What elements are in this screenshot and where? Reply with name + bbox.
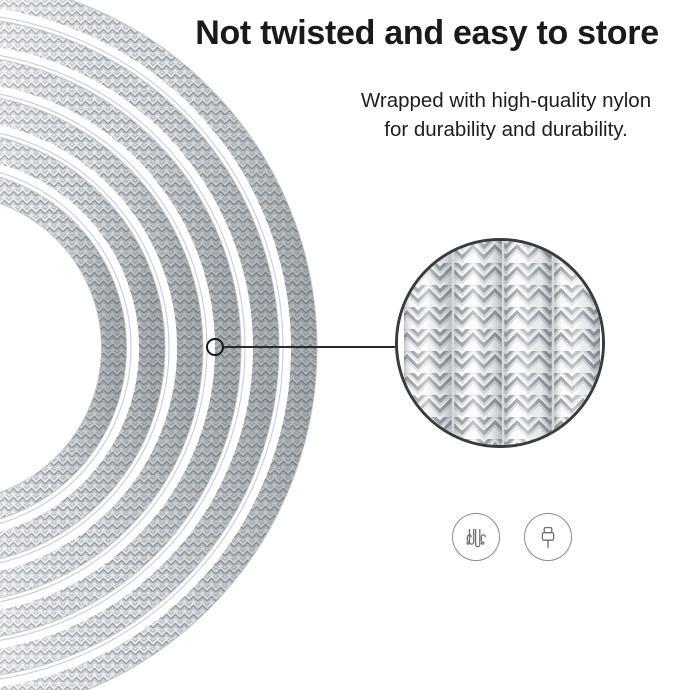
cable-ring: [0, 0, 340, 690]
braided-strand: [504, 241, 552, 445]
braided-strand: [404, 241, 452, 445]
headline: Not twisted and easy to store: [175, 12, 679, 54]
braid-detail-svg: [398, 241, 602, 445]
feature-icon-row: [452, 510, 572, 564]
magnifier-source-marker: [206, 338, 224, 356]
coiled-cable-glyph: [461, 522, 491, 552]
connector-plug-glyph: [533, 522, 563, 552]
braided-strand: [454, 241, 502, 445]
coiled-cable-icon[interactable]: [452, 513, 500, 561]
magnifier-leader-line: [223, 346, 398, 348]
subtitle-line-1: Wrapped with high-quality nylon: [333, 86, 679, 115]
coiled-cable-graphic: [0, 0, 340, 690]
braided-strand: [554, 241, 600, 445]
braid-detail-magnifier: [395, 238, 605, 448]
connector-plug-icon[interactable]: [524, 513, 572, 561]
product-feature-image: Not twisted and easy to store Wrapped wi…: [0, 0, 679, 690]
coiled-cable-svg: [0, 0, 340, 690]
subtitle: Wrapped with high-quality nylon for dura…: [333, 86, 679, 144]
subtitle-line-2: for durability and durability.: [333, 115, 679, 144]
